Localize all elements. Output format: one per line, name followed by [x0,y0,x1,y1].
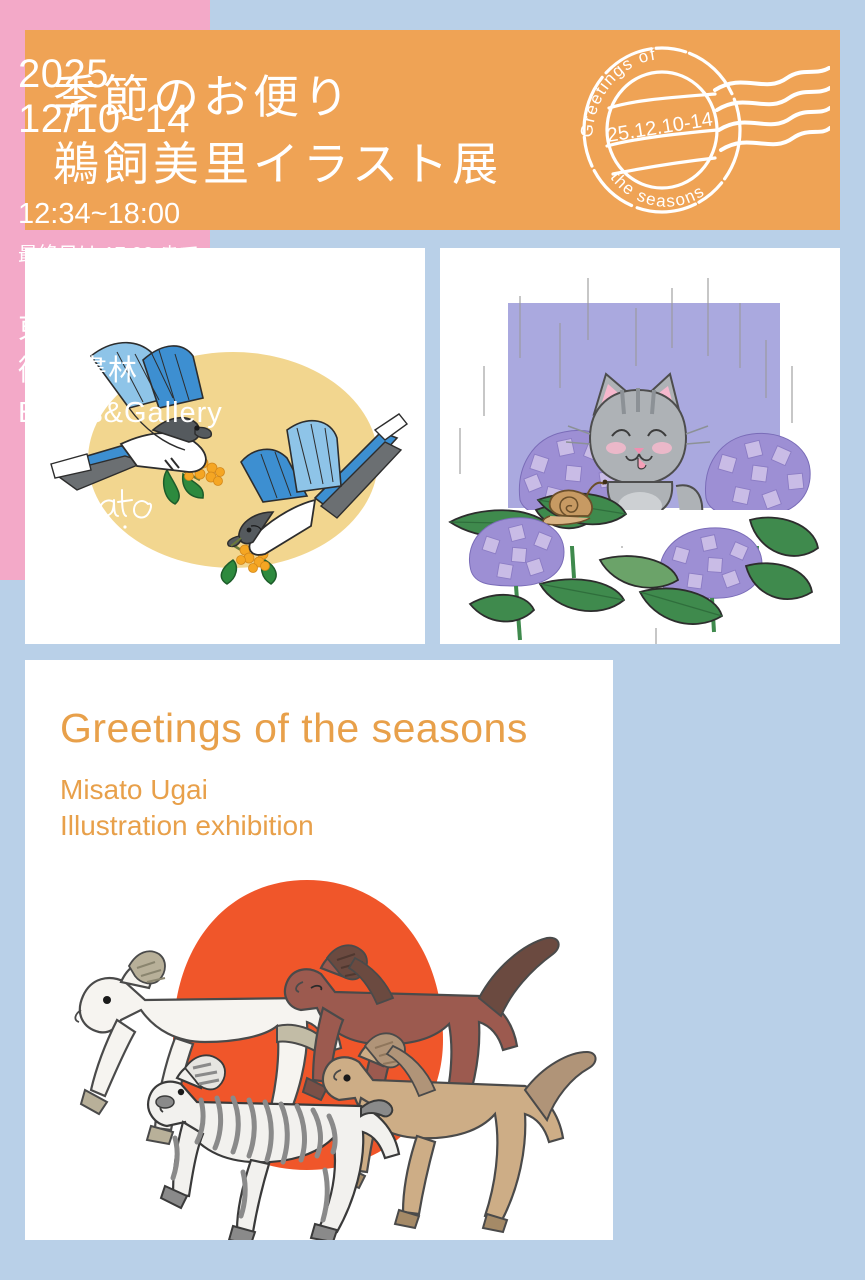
event-venue: 東京 吉祥寺 街々書林 Books&Gallery [18,308,210,434]
event-hours: 12:34~18:00 [18,198,180,231]
stamp-date-text: 25.12.10-14 [605,109,714,147]
postmark-stamp-icon: Greetings of the seasons 25.12.10-14 [565,38,830,223]
event-hours-note: 最終日は 17:00 まで [18,238,199,267]
exhibition-subtitle: Misato Ugai Illustration exhibition [60,772,314,844]
illustration-panel-cat [440,248,840,644]
artist-signature [22,470,202,565]
stamp-arc-bottom-text: the seasons [607,168,708,211]
exhibition-title: Greetings of the seasons [60,705,528,752]
horses-illustration [25,850,613,1240]
svg-text:the seasons: the seasons [607,168,708,211]
main-content-panel: Greetings of the seasons Misato Ugai Ill… [25,660,613,1240]
poster-root: 季節のお便り 鵜飼美里イラスト展 Greetings of [0,0,865,1280]
event-dates: 2025 12/10~14 [18,52,190,142]
cat-hydrangea-illustration [440,248,840,644]
